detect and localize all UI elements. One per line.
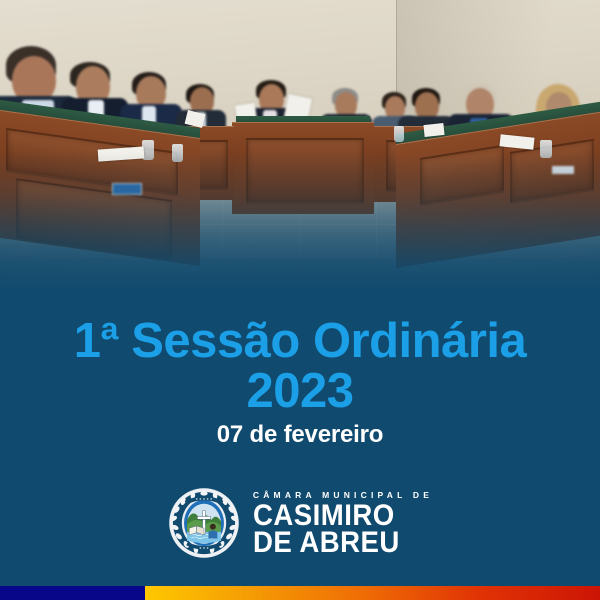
- headline-line-2: 2023: [0, 366, 600, 416]
- poster-canvas: 1ª Sessão Ordinária 2023 07 de fevereiro: [0, 0, 600, 600]
- floor-tile-line: [40, 256, 570, 257]
- camara-logo: ★ ★ ★ ★ ★ ★ ★ ★ CÂMARA MUNICIPAL DE CASI…: [0, 486, 600, 560]
- water-glass: [394, 126, 404, 142]
- nameplate: [112, 183, 142, 195]
- svg-text:★ ★ ★: ★ ★ ★: [199, 546, 209, 550]
- stripe-segment-gradient: [145, 586, 600, 600]
- stripe-segment-blue: [0, 586, 145, 600]
- page-title: 1ª Sessão Ordinária 2023: [0, 316, 600, 416]
- logo-city-line-2: DE ABREU: [253, 529, 419, 556]
- logo-city-line-1: CASIMIRO: [253, 502, 419, 529]
- svg-text:★ ★ ★ ★ ★: ★ ★ ★ ★ ★: [195, 497, 213, 501]
- water-glass: [540, 140, 552, 158]
- headline-line-1: 1ª Sessão Ordinária: [74, 314, 527, 368]
- bottom-stripe: [0, 586, 600, 600]
- nameplate: [552, 166, 574, 174]
- water-glass: [172, 144, 183, 162]
- document-sheet: [423, 123, 444, 137]
- bench-panel: [246, 138, 364, 204]
- event-date: 07 de fevereiro: [0, 421, 600, 449]
- session-photo: [0, 0, 600, 292]
- coat-of-arms-icon: ★ ★ ★ ★ ★ ★ ★ ★: [167, 486, 241, 560]
- logo-wordmark: CÂMARA MUNICIPAL DE CASIMIRO DE ABREU: [253, 490, 433, 556]
